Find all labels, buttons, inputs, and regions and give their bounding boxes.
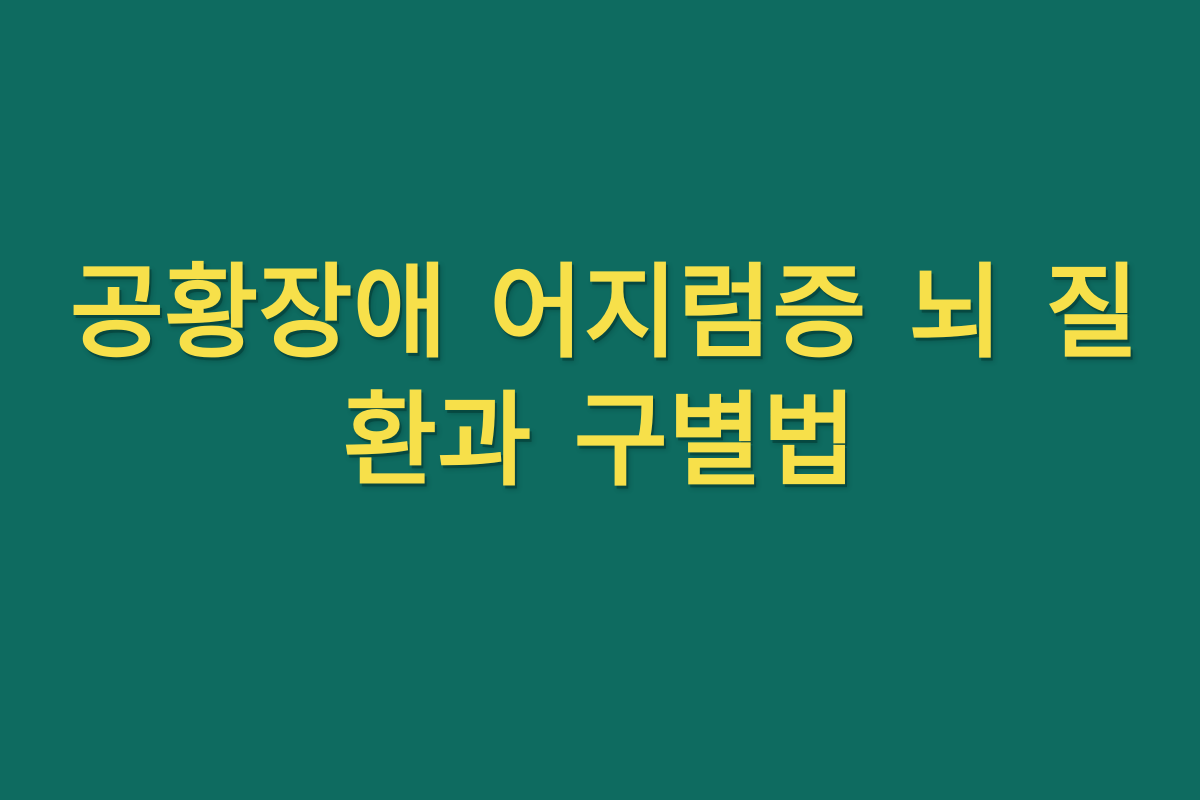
title-line-2: 환과 구별법 xyxy=(70,377,1130,507)
title-banner: 공황장애 어지럼증 뇌 질 환과 구별법 xyxy=(0,0,1200,800)
page-title: 공황장애 어지럼증 뇌 질 환과 구별법 xyxy=(70,249,1130,506)
title-line-1: 공황장애 어지럼증 뇌 질 xyxy=(70,249,1130,379)
